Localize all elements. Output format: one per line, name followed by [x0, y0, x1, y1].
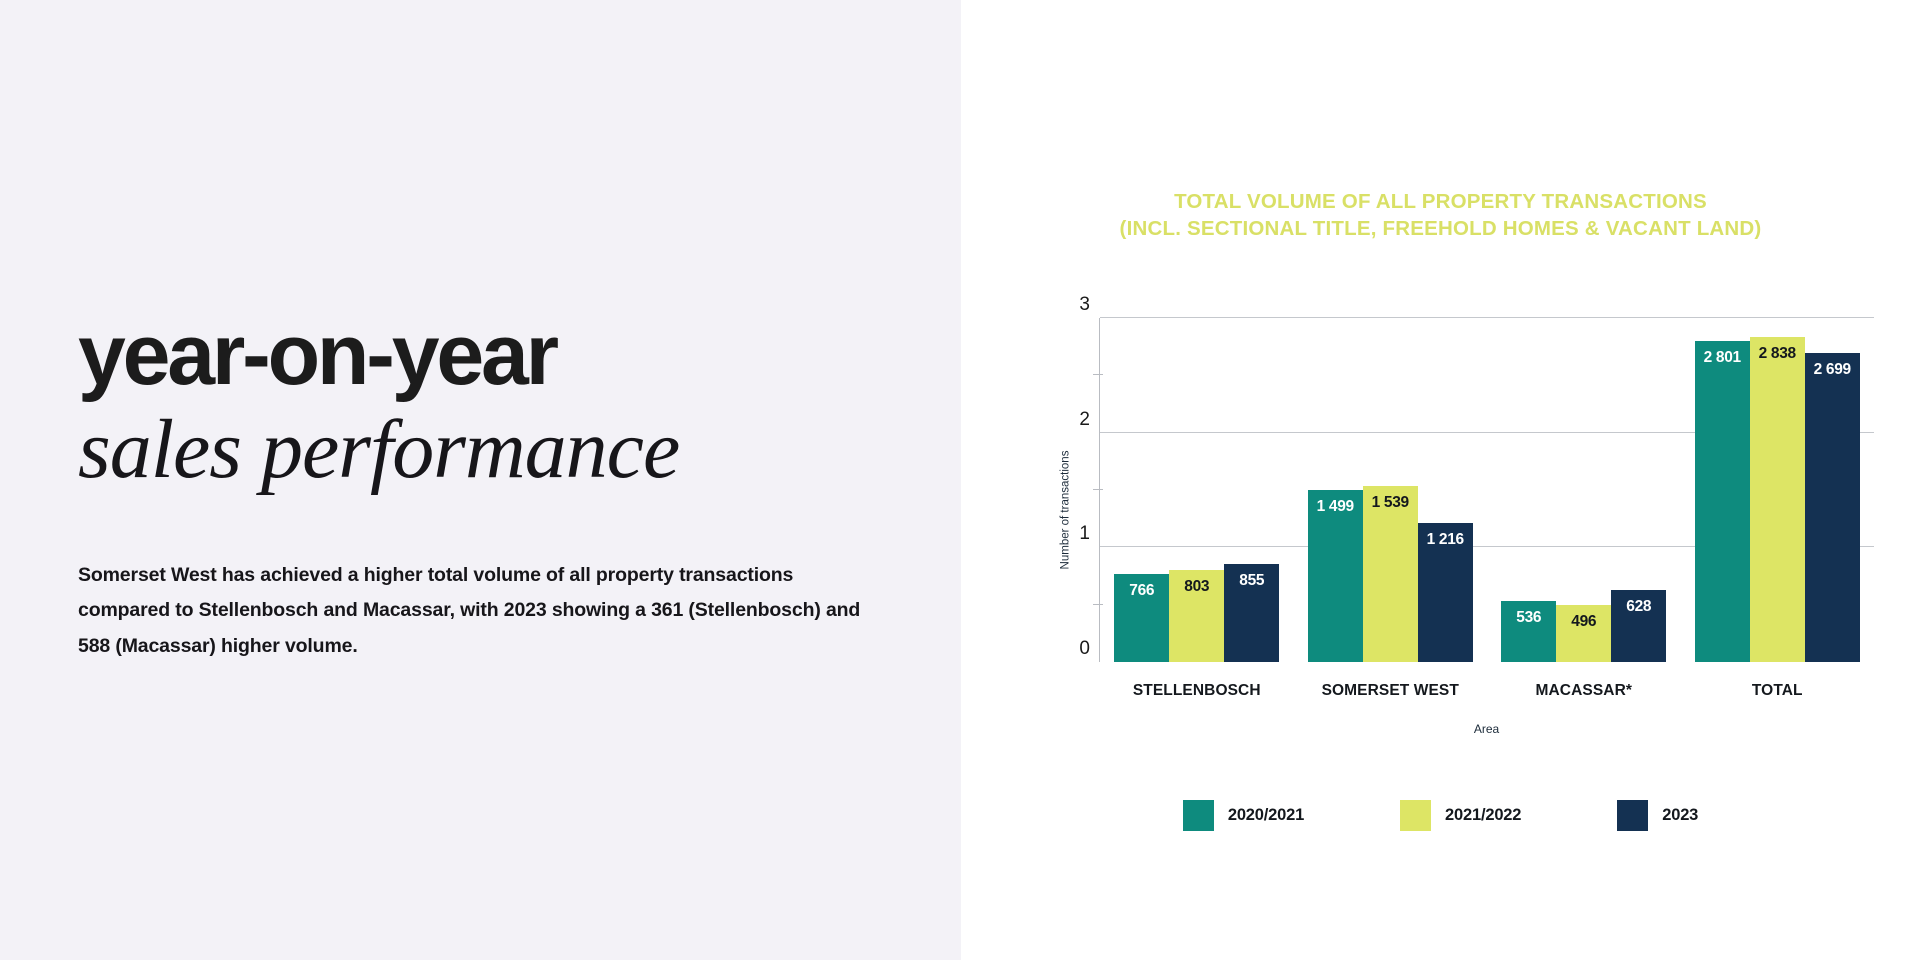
legend-swatch-icon — [1183, 800, 1214, 831]
bar-group: 1 4991 5391 216SOMERSET WEST — [1294, 318, 1488, 662]
bar-value-label: 496 — [1556, 613, 1611, 631]
y-axis-tick-label: 0 — [1066, 638, 1090, 660]
bar[interactable]: 2 801 — [1695, 341, 1750, 662]
bar-value-label: 628 — [1611, 598, 1666, 616]
bar-value-label: 2 838 — [1750, 345, 1805, 363]
bar[interactable]: 766 — [1114, 574, 1169, 662]
page-title-secondary: sales performance — [78, 405, 878, 496]
y-axis-label: Number of transactions — [1059, 451, 1071, 570]
bar-value-label: 536 — [1501, 609, 1556, 627]
bar-value-label: 1 499 — [1308, 498, 1363, 516]
x-axis-category-label: TOTAL — [1681, 682, 1875, 700]
bar[interactable]: 1 539 — [1363, 486, 1418, 662]
x-axis-label: Area — [1099, 722, 1874, 736]
chart-title: TOTAL VOLUME OF ALL PROPERTY TRANSACTION… — [961, 188, 1920, 242]
bar-group: 766803855STELLENBOSCH — [1100, 318, 1294, 662]
legend-item[interactable]: 2021/2022 — [1400, 800, 1521, 831]
x-axis-category-label: STELLENBOSCH — [1100, 682, 1294, 700]
bar-group: 2 8012 8382 699TOTAL — [1681, 318, 1875, 662]
legend-label: 2020/2021 — [1228, 806, 1304, 825]
plot-wrapper: Number of transactions 0123 766803855STE… — [961, 300, 1920, 720]
chart-title-line-2: (INCL. SECTIONAL TITLE, FREEHOLD HOMES &… — [961, 215, 1920, 242]
bar[interactable]: 536 — [1501, 601, 1556, 662]
bar[interactable]: 2 838 — [1750, 337, 1805, 662]
x-axis-category-label: MACASSAR* — [1487, 682, 1681, 700]
legend-swatch-icon — [1400, 800, 1431, 831]
chart-title-line-1: TOTAL VOLUME OF ALL PROPERTY TRANSACTION… — [961, 188, 1920, 215]
bar[interactable]: 1 499 — [1308, 490, 1363, 662]
legend-item[interactable]: 2023 — [1617, 800, 1698, 831]
bar-value-label: 1 216 — [1418, 531, 1473, 549]
x-axis-category-label: SOMERSET WEST — [1294, 682, 1488, 700]
left-content: year-on-year sales performance Somerset … — [78, 316, 878, 664]
summary-paragraph: Somerset West has achieved a higher tota… — [78, 558, 878, 664]
bar-value-label: 855 — [1224, 572, 1279, 590]
bar[interactable]: 2 699 — [1805, 353, 1860, 662]
bar[interactable]: 1 216 — [1418, 523, 1473, 662]
left-text-panel: year-on-year sales performance Somerset … — [0, 0, 961, 960]
bar-group: 536496628MACASSAR* — [1487, 318, 1681, 662]
y-axis-tick-label: 1 — [1066, 523, 1090, 545]
bar-value-label: 2 801 — [1695, 349, 1750, 367]
bar-value-label: 803 — [1169, 578, 1224, 596]
bar-value-label: 2 699 — [1805, 361, 1860, 379]
page-title-primary: year-on-year — [78, 316, 878, 395]
chart-legend: 2020/20212021/20222023 — [961, 800, 1920, 831]
legend-swatch-icon — [1617, 800, 1648, 831]
bar[interactable]: 496 — [1556, 605, 1611, 662]
bar-groups: 766803855STELLENBOSCH1 4991 5391 216SOME… — [1100, 318, 1874, 662]
y-axis-tick-label: 3 — [1066, 294, 1090, 316]
bar[interactable]: 855 — [1224, 564, 1279, 662]
legend-label: 2021/2022 — [1445, 806, 1521, 825]
y-axis-tick-label: 2 — [1066, 409, 1090, 431]
bar[interactable]: 803 — [1169, 570, 1224, 662]
chart-panel: TOTAL VOLUME OF ALL PROPERTY TRANSACTION… — [961, 0, 1920, 960]
bar[interactable]: 628 — [1611, 590, 1666, 662]
legend-item[interactable]: 2020/2021 — [1183, 800, 1304, 831]
legend-label: 2023 — [1662, 806, 1698, 825]
bar-value-label: 766 — [1114, 582, 1169, 600]
plot-area: 0123 766803855STELLENBOSCH1 4991 5391 21… — [1099, 318, 1874, 662]
bar-value-label: 1 539 — [1363, 494, 1418, 512]
